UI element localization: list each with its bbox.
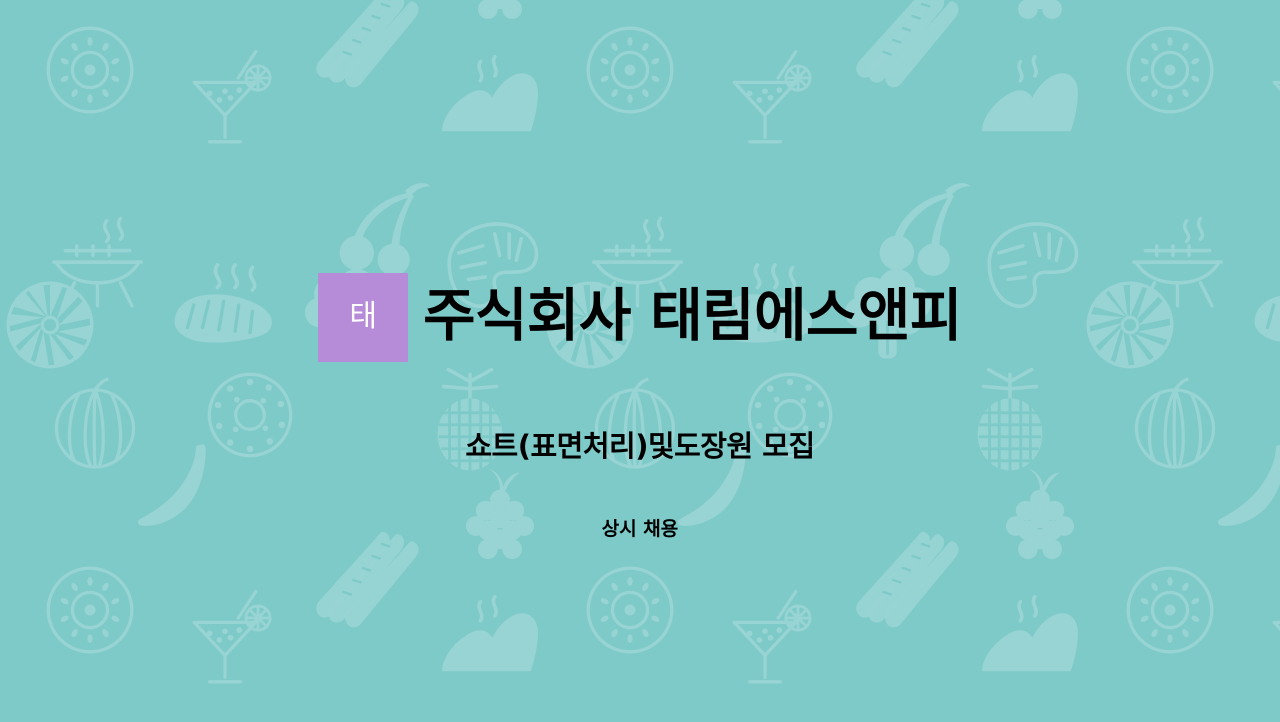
banner-content: 태 주식회사 태림에스앤피 쇼트(표면처리)및도장원 모집 상시 채용 — [0, 0, 1280, 722]
company-name: 주식회사 태림에스앤피 — [423, 287, 962, 347]
hiring-type-label: 상시 채용 — [602, 518, 679, 541]
company-logo-initial: 태 — [349, 302, 377, 332]
company-logo-badge: 태 — [318, 273, 408, 362]
job-title: 쇼트(표면처리)및도장원 모집 — [465, 429, 814, 464]
job-posting-banner: 태 주식회사 태림에스앤피 쇼트(표면처리)및도장원 모집 상시 채용 — [0, 0, 1280, 722]
company-header: 태 주식회사 태림에스앤피 — [0, 249, 1280, 385]
